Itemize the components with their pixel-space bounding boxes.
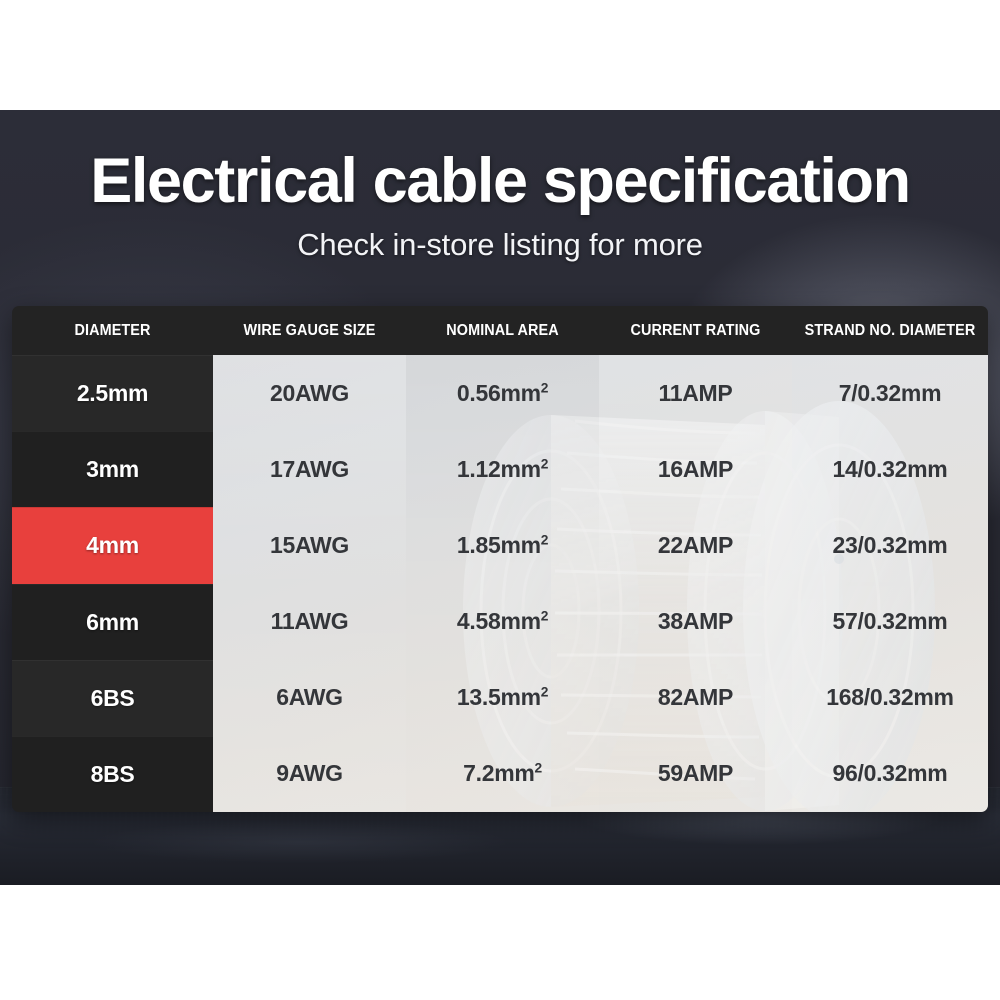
cell-current-rating: 16AMP xyxy=(599,456,792,483)
diameter-cell: 3mm xyxy=(12,431,213,507)
nominal-area-exponent: 2 xyxy=(541,532,548,547)
nominal-area-value: 13.5mm xyxy=(457,684,541,710)
diameter-cell-highlighted: 4mm xyxy=(12,507,213,583)
column-header-nominal-area: NOMINAL AREA xyxy=(413,322,592,340)
nominal-area-value: 1.12mm xyxy=(457,456,541,482)
diameter-cell: 2.5mm xyxy=(12,355,213,431)
diameter-cell: 6BS xyxy=(12,660,213,736)
table-row-highlighted: 15AWG 1.85mm2 22AMP 23/0.32mm xyxy=(213,507,988,583)
column-header-current-rating: CURRENT RATING xyxy=(606,322,785,340)
cell-wire-gauge-size: 15AWG xyxy=(213,532,406,559)
diameter-cell: 8BS xyxy=(12,736,213,812)
table-row: 20AWG 0.56mm2 11AMP 7/0.32mm xyxy=(213,355,988,431)
cell-current-rating: 59AMP xyxy=(599,760,792,787)
cell-nominal-area: 7.2mm2 xyxy=(406,760,599,787)
cell-strand-no-diameter: 23/0.32mm xyxy=(792,532,988,559)
table-row: 6AWG 13.5mm2 82AMP 168/0.32mm xyxy=(213,660,988,736)
cell-current-rating: 22AMP xyxy=(599,532,792,559)
top-white-margin xyxy=(0,0,1000,110)
cell-strand-no-diameter: 57/0.32mm xyxy=(792,608,988,635)
specification-table: DIAMETER WIRE GAUGE SIZE NOMINAL AREA CU… xyxy=(12,306,988,812)
nominal-area-exponent: 2 xyxy=(541,380,548,395)
column-header-strand-no-diameter: STRAND NO. DIAMETER xyxy=(799,322,981,340)
nominal-area-exponent: 2 xyxy=(541,685,548,700)
column-header-diameter: DIAMETER xyxy=(19,322,206,340)
nominal-area-exponent: 2 xyxy=(541,456,548,471)
nominal-area-value: 7.2mm xyxy=(463,760,534,786)
cell-nominal-area: 4.58mm2 xyxy=(406,608,599,635)
cell-wire-gauge-size: 9AWG xyxy=(213,760,406,787)
nominal-area-exponent: 2 xyxy=(535,761,542,776)
cell-nominal-area: 13.5mm2 xyxy=(406,684,599,711)
cell-wire-gauge-size: 20AWG xyxy=(213,380,406,407)
table-body: 20AWG 0.56mm2 11AMP 7/0.32mm 17AWG 1.12m… xyxy=(213,355,988,812)
table-header-row: DIAMETER WIRE GAUGE SIZE NOMINAL AREA CU… xyxy=(12,306,988,355)
bottom-white-margin xyxy=(0,885,1000,1000)
cell-wire-gauge-size: 6AWG xyxy=(213,684,406,711)
page-title: Electrical cable specification xyxy=(0,150,1000,213)
cell-nominal-area: 1.85mm2 xyxy=(406,532,599,559)
cell-current-rating: 38AMP xyxy=(599,608,792,635)
cell-current-rating: 82AMP xyxy=(599,684,792,711)
cell-wire-gauge-size: 11AWG xyxy=(213,608,406,635)
diameter-cell: 6mm xyxy=(12,584,213,660)
product-spec-image: Electrical cable specification Check in-… xyxy=(0,0,1000,1000)
nominal-area-value: 0.56mm xyxy=(457,380,541,406)
cell-nominal-area: 1.12mm2 xyxy=(406,456,599,483)
nominal-area-value: 1.85mm xyxy=(457,532,541,558)
nominal-area-value: 4.58mm xyxy=(457,608,541,634)
cell-strand-no-diameter: 96/0.32mm xyxy=(792,760,988,787)
nominal-area-exponent: 2 xyxy=(541,608,548,623)
table-row: 17AWG 1.12mm2 16AMP 14/0.32mm xyxy=(213,431,988,507)
cell-strand-no-diameter: 168/0.32mm xyxy=(792,684,988,711)
cell-strand-no-diameter: 7/0.32mm xyxy=(792,380,988,407)
table-row: 9AWG 7.2mm2 59AMP 96/0.32mm xyxy=(213,736,988,812)
page-subtitle: Check in-store listing for more xyxy=(0,227,1000,263)
column-header-wire-gauge-size: WIRE GAUGE SIZE xyxy=(220,322,399,340)
table-row: 11AWG 4.58mm2 38AMP 57/0.32mm xyxy=(213,584,988,660)
cell-wire-gauge-size: 17AWG xyxy=(213,456,406,483)
diameter-column: 2.5mm 3mm 4mm 6mm 6BS 8BS xyxy=(12,355,213,812)
cell-current-rating: 11AMP xyxy=(599,380,792,407)
cell-nominal-area: 0.56mm2 xyxy=(406,380,599,407)
page-heading: Electrical cable specification Check in-… xyxy=(0,150,1000,263)
cell-strand-no-diameter: 14/0.32mm xyxy=(792,456,988,483)
